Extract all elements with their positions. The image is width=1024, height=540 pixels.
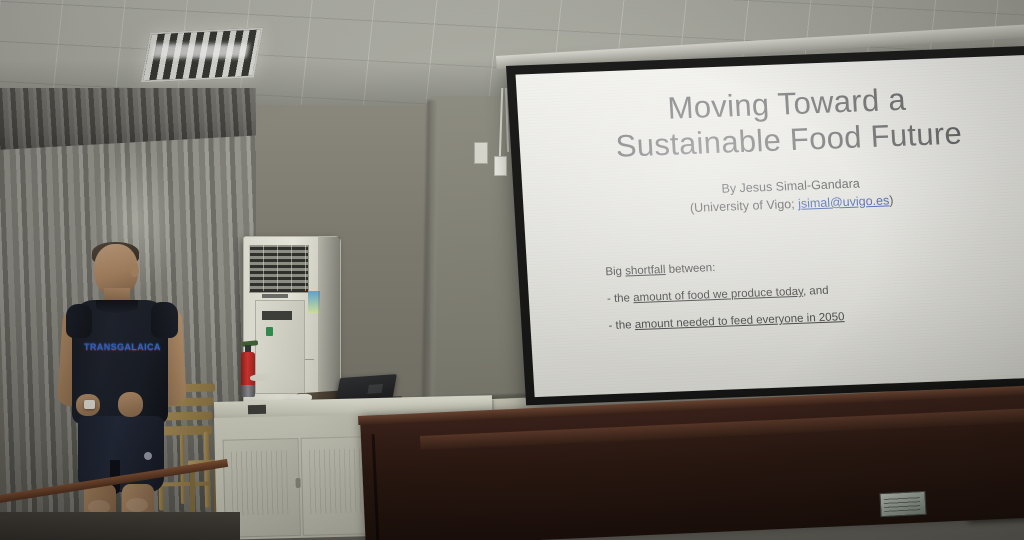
presentation-slide: Moving Toward a Sustainable Food Future …: [516, 55, 1024, 397]
screen-switch-box[interactable]: [494, 156, 507, 176]
lead-tail: between:: [665, 262, 716, 276]
bullet2-underlined: amount needed to feed everyone in 2050: [634, 311, 844, 331]
dispenser-tap: [266, 327, 273, 336]
shirt-sleeve-left: [66, 304, 92, 338]
ac-brand-logo: [262, 294, 288, 298]
bullet1-prefix: - the: [607, 292, 634, 305]
projection-screen: Moving Toward a Sustainable Food Future …: [506, 46, 1024, 405]
bullet1-tail: , and: [803, 285, 829, 298]
podium-latch: [248, 405, 266, 414]
ac-side-shadow: [318, 237, 340, 409]
shirt-collar: [96, 300, 138, 313]
label-text-lines: [884, 496, 921, 512]
lead-underlined: shortfall: [625, 264, 666, 278]
lecture-hall-photo: Moving Toward a Sustainable Food Future …: [0, 0, 1024, 540]
slide-email-link[interactable]: jsimal@uvigo.es: [798, 193, 890, 210]
wall-control-box[interactable]: [474, 142, 488, 164]
desk-name-label: [879, 491, 926, 517]
slide-body: Big shortfall between: - the amount of f…: [605, 244, 1010, 340]
lead-prefix: Big: [605, 266, 626, 279]
slide-title: Moving Toward a Sustainable Food Future: [551, 77, 1024, 167]
shorts-logo: [144, 452, 152, 460]
bullet1-underlined: amount of food we produce today: [633, 286, 803, 305]
laptop-screen-glare: [367, 384, 383, 394]
screen-surface: Moving Toward a Sustainable Food Future …: [516, 55, 1024, 397]
ac-grille-slats: [249, 245, 307, 291]
cabinet-lock: [295, 478, 300, 488]
presenter-ear: [130, 264, 139, 277]
cabinet-vent-left: [231, 450, 289, 515]
slide-title-line2: Sustainable Food Future: [553, 113, 1024, 167]
affiliation-suffix: ): [889, 193, 894, 207]
affiliation-prefix: (University of Vigo;: [690, 197, 799, 215]
shirt-graphic-text: TRANSGALAICA: [84, 340, 156, 354]
presentation-clicker[interactable]: [84, 400, 95, 409]
bullet2-prefix: - the: [608, 319, 635, 332]
shirt-sleeve-right: [151, 302, 178, 338]
ceiling-light-glow: [150, 44, 249, 58]
dispenser-panel: [262, 311, 292, 320]
presenter-hand-right: [118, 392, 143, 417]
cabinet-vent-right: [309, 448, 367, 513]
extinguisher-base: [241, 385, 255, 397]
